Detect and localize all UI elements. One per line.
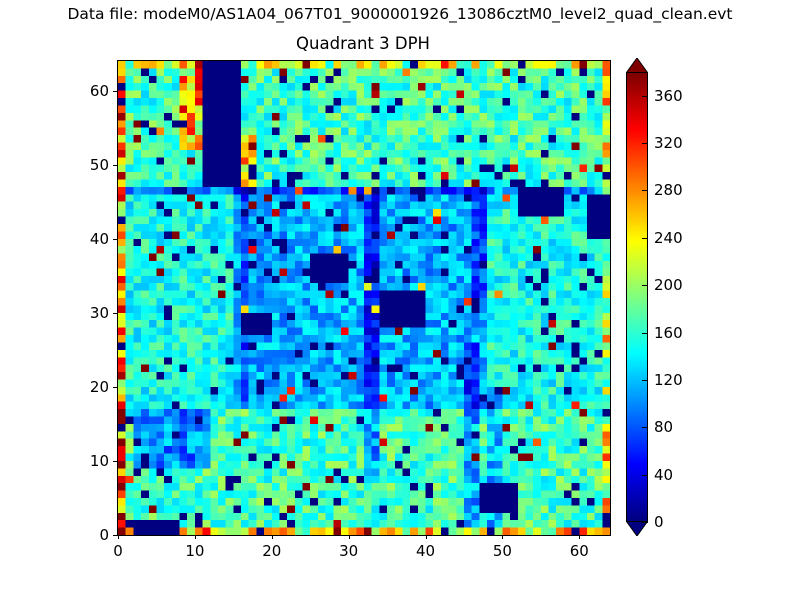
x-tick-mark [502,535,503,539]
x-tick-label: 40 [416,542,435,560]
colorbar-tick-label: 40 [654,466,673,484]
colorbar-over-arrow-icon [626,58,648,73]
y-tick-mark [113,313,117,314]
colorbar: 04080120160200240280320360 [626,58,650,536]
y-tick-label: 40 [69,230,109,248]
x-tick-mark [349,535,350,539]
figure-canvas: Data file: modeM0/AS1A04_067T01_90000019… [0,0,800,600]
colorbar-tick-mark [642,285,648,286]
y-tick-label: 50 [69,156,109,174]
colorbar-tick-mark [642,143,648,144]
y-tick-label: 10 [69,452,109,470]
y-tick-mark [113,165,117,166]
y-tick-mark [113,535,117,536]
colorbar-tick-label: 240 [654,229,683,247]
colorbar-under-arrow-icon [626,521,648,536]
x-tick-label: 10 [185,542,204,560]
y-tick-label: 20 [69,378,109,396]
colorbar-tick-mark [642,522,648,523]
x-tick-label: 0 [113,542,123,560]
x-tick-mark [195,535,196,539]
x-tick-label: 60 [570,542,589,560]
colorbar-tick-mark [642,427,648,428]
y-tick-label: 60 [69,82,109,100]
heatmap-axes [117,60,611,536]
data-file-suptitle: Data file: modeM0/AS1A04_067T01_90000019… [0,5,800,23]
colorbar-tick-label: 160 [654,324,683,342]
colorbar-tick-label: 80 [654,418,673,436]
x-tick-label: 50 [493,542,512,560]
y-tick-label: 30 [69,304,109,322]
colorbar-tick-label: 360 [654,87,683,105]
colorbar-tick-mark [642,190,648,191]
y-tick-mark [113,387,117,388]
y-tick-label: 0 [69,526,109,544]
colorbar-tick-mark [642,380,648,381]
x-tick-label: 20 [262,542,281,560]
colorbar-tick-label: 320 [654,134,683,152]
y-tick-mark [113,91,117,92]
y-tick-mark [113,461,117,462]
colorbar-tick-label: 0 [654,513,664,531]
x-tick-mark [118,535,119,539]
heatmap-image [118,61,610,535]
colorbar-tick-label: 200 [654,276,683,294]
x-tick-label: 30 [339,542,358,560]
colorbar-tick-label: 280 [654,181,683,199]
colorbar-tick-mark [642,333,648,334]
colorbar-tick-mark [642,475,648,476]
colorbar-gradient [626,72,648,522]
colorbar-tick-label: 120 [654,371,683,389]
page-title: Quadrant 3 DPH [117,34,609,53]
y-tick-mark [113,239,117,240]
x-tick-mark [579,535,580,539]
colorbar-tick-mark [642,96,648,97]
colorbar-tick-mark [642,238,648,239]
x-tick-mark [272,535,273,539]
x-tick-mark [426,535,427,539]
